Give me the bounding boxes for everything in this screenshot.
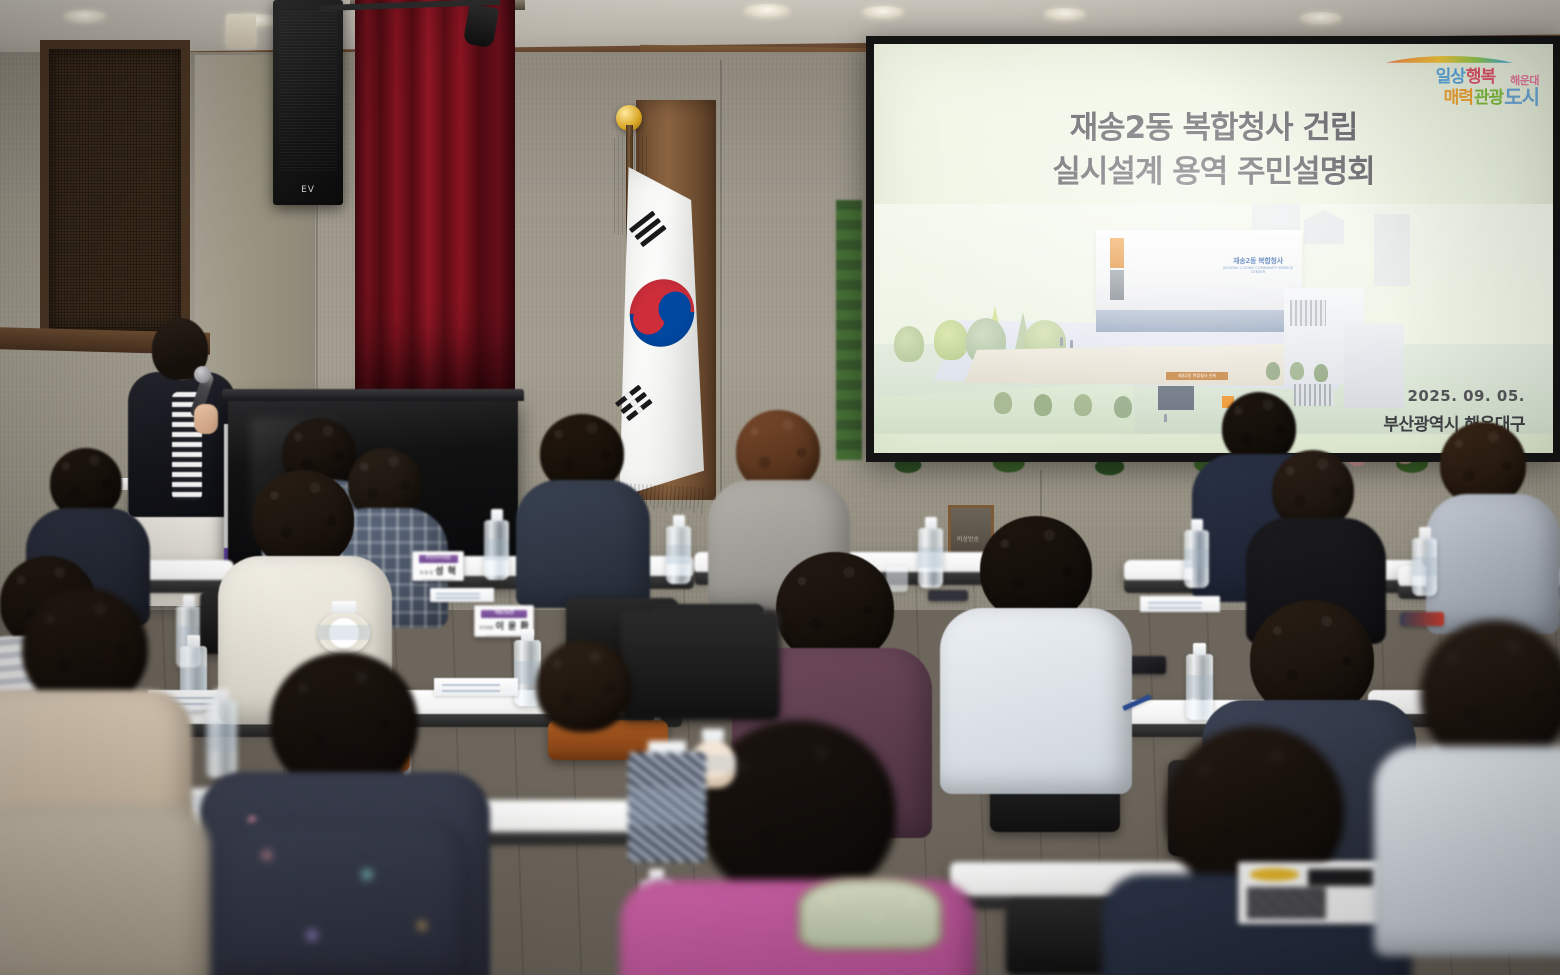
garland-decoration bbox=[836, 200, 862, 460]
water-bottle[interactable] bbox=[484, 520, 509, 580]
city-brand-logo: 일상 행복 해운대 매력 관광 도시 bbox=[1361, 52, 1539, 108]
nameplate-person: 성 혁 bbox=[435, 564, 456, 577]
render-building-sign-subtext: JAESONG 2-DONG COMMUNITY SERVICE CENTER bbox=[1220, 266, 1296, 274]
handout-logo-dot bbox=[1250, 868, 1300, 880]
render-street-tree bbox=[1034, 394, 1052, 416]
stage-curtain bbox=[355, 0, 515, 400]
logo-word-haengbok: 행복 bbox=[1466, 69, 1495, 86]
nameplate-role: 자치위원 bbox=[479, 625, 494, 631]
render-retaining-wall bbox=[964, 344, 1284, 386]
torso bbox=[1426, 494, 1560, 634]
slide-title: 재송2동 복합청사 건립 실시설계 용역 주민설명회 bbox=[874, 106, 1553, 194]
head bbox=[980, 516, 1092, 622]
ceiling-downlight bbox=[1044, 8, 1086, 21]
render-entrance bbox=[1158, 386, 1194, 410]
piano-lid bbox=[222, 389, 524, 401]
slide-title-line1: 재송2동 복합청사 건립 bbox=[874, 106, 1553, 150]
render-glass-curtainwall bbox=[1096, 310, 1286, 332]
water-bottle[interactable] bbox=[1412, 538, 1437, 596]
handout-title-bar bbox=[1308, 869, 1375, 885]
render-facade-accent bbox=[1110, 238, 1124, 268]
torso bbox=[1374, 746, 1560, 956]
head bbox=[1420, 620, 1560, 766]
render-tree bbox=[934, 320, 968, 360]
handout-image bbox=[1247, 887, 1326, 919]
projection-screen: 일상 행복 해운대 매력 관광 도시 재송2동 복합청사 건립 실시설계 용역 … bbox=[866, 36, 1560, 462]
remote-control[interactable] bbox=[928, 590, 968, 601]
chair[interactable] bbox=[620, 610, 780, 720]
render-louvers bbox=[1294, 384, 1334, 406]
render-background-building bbox=[1374, 214, 1410, 286]
head bbox=[536, 640, 632, 732]
handout-paper bbox=[1140, 596, 1220, 612]
ceiling-downlight bbox=[1300, 12, 1342, 25]
projected-slide: 일상 행복 해운대 매력 관광 도시 재송2동 복합청사 건립 실시설계 용역 … bbox=[874, 44, 1553, 453]
render-figure bbox=[1164, 414, 1167, 422]
render-street-tree bbox=[1314, 364, 1328, 382]
ceiling-downlight bbox=[744, 4, 790, 18]
water-bottle[interactable] bbox=[666, 526, 691, 584]
water-bottle[interactable] bbox=[918, 528, 943, 588]
render-facade-accent bbox=[1110, 270, 1124, 300]
head bbox=[270, 652, 418, 792]
speaker-grille bbox=[279, 10, 337, 171]
bag bbox=[628, 752, 706, 862]
render-louvers bbox=[1290, 300, 1326, 326]
render-street-tree bbox=[1074, 394, 1092, 416]
torso bbox=[222, 820, 472, 975]
decorative-bow bbox=[318, 612, 370, 654]
nameplate-title: 주민자치위원 bbox=[419, 555, 458, 563]
nameplate: 주민자치위원 위 원 장성 혁 bbox=[412, 551, 464, 581]
tv-remote[interactable] bbox=[1400, 612, 1444, 626]
printed-handout bbox=[1238, 862, 1384, 924]
smoke-detector bbox=[226, 14, 256, 48]
ceiling-downlight bbox=[64, 10, 106, 23]
torso bbox=[516, 480, 650, 608]
ceiling-downlight bbox=[862, 6, 904, 19]
render-tree bbox=[894, 326, 924, 362]
torso bbox=[0, 806, 210, 975]
render-plaza-banner: 재송2동 복합청사 신축 bbox=[1166, 372, 1228, 380]
wall-seam bbox=[720, 60, 722, 530]
render-street-tree bbox=[1290, 362, 1304, 380]
microphone-head bbox=[194, 366, 211, 383]
render-street-tree bbox=[1266, 362, 1280, 380]
water-bottle[interactable] bbox=[206, 700, 237, 778]
nameplate-title: 재송2동장 bbox=[481, 610, 526, 618]
render-side-wing bbox=[1344, 324, 1404, 408]
slide-date: 2025. 09. 05. bbox=[1407, 387, 1525, 405]
logo-word-maeryeok: 매력 bbox=[1444, 90, 1473, 107]
render-figure bbox=[1070, 340, 1073, 348]
conference-room-photo: EV 비상방송 일상 행복 해운대 bbox=[0, 0, 1560, 975]
water-bottle[interactable] bbox=[1184, 530, 1209, 588]
handout-paper bbox=[434, 678, 518, 696]
logo-word-dosi: 도시 bbox=[1504, 87, 1539, 107]
logo-word-gwangwang: 관광 bbox=[1474, 90, 1503, 107]
speaker-brand-label: EV bbox=[301, 185, 315, 195]
wall-panel-label: 비상방송 bbox=[957, 534, 979, 543]
pa-speaker: EV bbox=[273, 0, 343, 205]
nameplate-role: 위 원 장 bbox=[420, 570, 434, 576]
render-figure bbox=[1060, 337, 1063, 346]
torso bbox=[940, 608, 1132, 794]
presenter-hand bbox=[194, 404, 218, 434]
render-street-tree bbox=[994, 392, 1012, 414]
logo-word-ilsang: 일상 bbox=[1436, 69, 1465, 86]
render-building-sign-text: 재송2동 복합청사 bbox=[1233, 257, 1283, 265]
water-bottle[interactable] bbox=[1186, 654, 1213, 720]
slide-title-line2: 실시설계 용역 주민설명회 bbox=[874, 150, 1553, 194]
window bbox=[40, 40, 190, 340]
handout-paper bbox=[430, 588, 494, 602]
neck-scarf bbox=[798, 878, 942, 950]
render-street-tree bbox=[1114, 396, 1132, 418]
head bbox=[252, 470, 354, 568]
window-glass bbox=[49, 49, 181, 331]
render-building-sign: 재송2동 복합청사 JAESONG 2-DONG COMMUNITY SERVI… bbox=[1220, 256, 1296, 272]
